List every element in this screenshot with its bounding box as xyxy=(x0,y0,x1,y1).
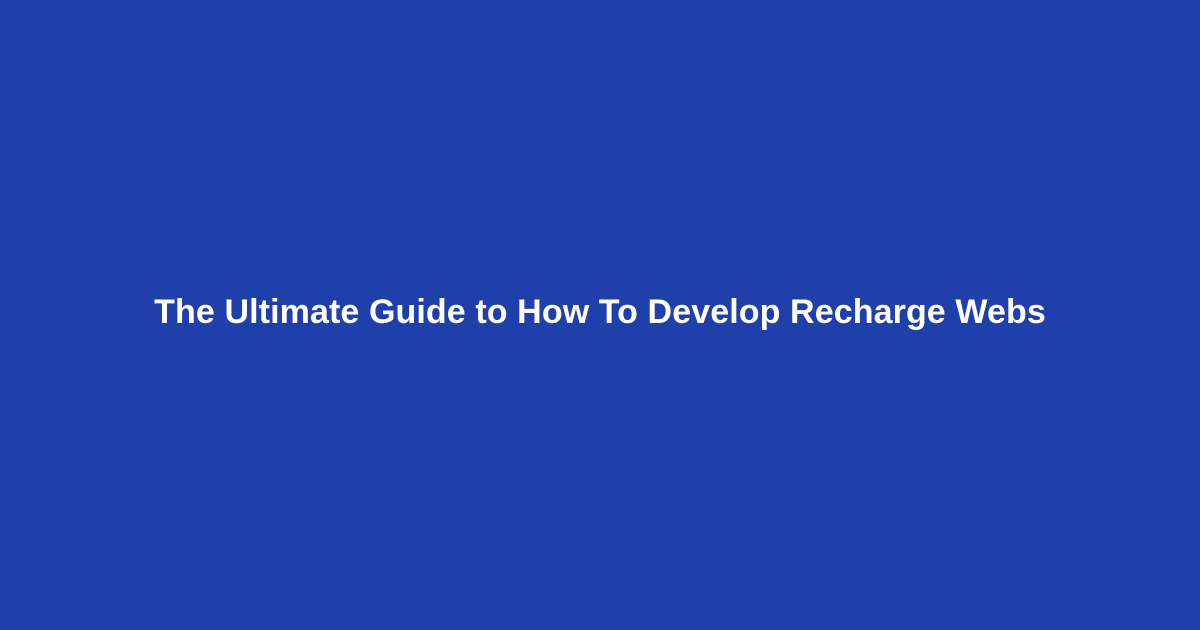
og-card: The Ultimate Guide to How To Develop Rec… xyxy=(0,0,1200,630)
headline-block: The Ultimate Guide to How To Develop Rec… xyxy=(100,291,1100,334)
page-title: The Ultimate Guide to How To Develop Rec… xyxy=(140,291,1060,334)
